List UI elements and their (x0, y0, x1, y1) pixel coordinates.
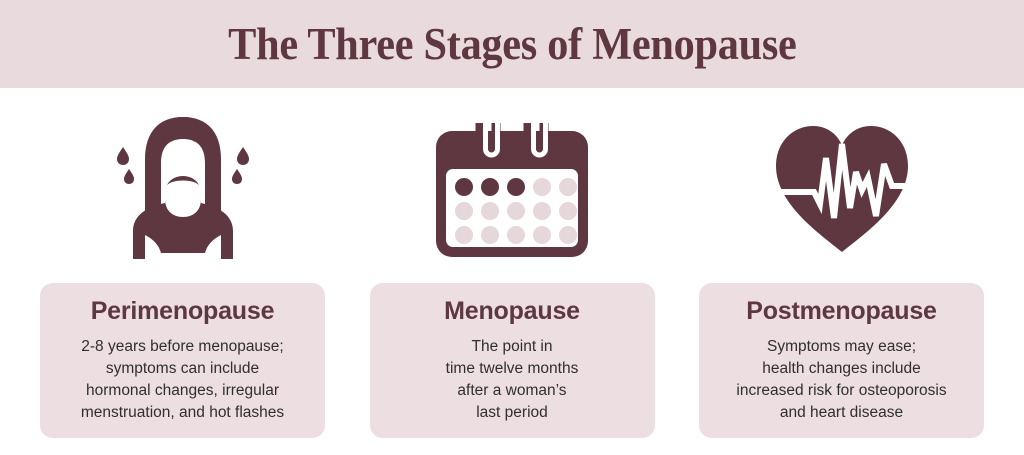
stage-card-postmenopause: Postmenopause Symptoms may ease; health … (699, 283, 984, 438)
stage-card-perimenopause: Perimenopause 2-8 years before menopause… (40, 283, 325, 438)
stages-row: Perimenopause 2-8 years before menopause… (40, 88, 984, 455)
stage-column-perimenopause: Perimenopause 2-8 years before menopause… (40, 88, 325, 455)
icon-area-perimenopause (103, 88, 263, 283)
stage-title: Postmenopause (711, 297, 972, 327)
calendar-icon (428, 111, 596, 261)
icon-area-menopause (428, 88, 596, 283)
page-title: The Three Stages of Menopause (228, 22, 796, 67)
stage-title: Menopause (382, 297, 643, 327)
stage-card-menopause: Menopause The point in time twelve month… (370, 283, 655, 438)
stage-description: 2-8 years before menopause; symptoms can… (52, 336, 313, 424)
icon-area-postmenopause (762, 88, 922, 283)
stage-description: Symptoms may ease; health changes includ… (711, 336, 972, 424)
stage-description: The point in time twelve months after a … (382, 336, 643, 424)
heart-ecg-icon (762, 112, 922, 260)
header-band: The Three Stages of Menopause (0, 0, 1024, 88)
woman-hot-flash-icon (103, 111, 263, 261)
stage-title: Perimenopause (52, 297, 313, 327)
stage-column-menopause: Menopause The point in time twelve month… (370, 88, 655, 455)
menopause-stages-infographic: The Three Stages of Menopause (0, 0, 1024, 455)
stage-column-postmenopause: Postmenopause Symptoms may ease; health … (699, 88, 984, 455)
